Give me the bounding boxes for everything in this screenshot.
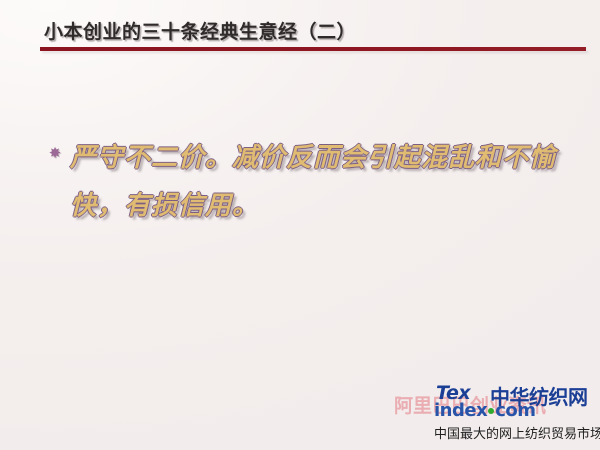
page-title: 小本创业的三十条经典生意经（二） (44, 19, 356, 45)
bullet-item-text: 严守不二价。减价反而会引起混乱和不愉快，有损信用。 (70, 134, 575, 230)
texindex-logo-index-text: index (434, 400, 487, 421)
watermark-tagline-text: 中国最大的网上纺织贸易市场 (434, 427, 600, 442)
bullet-marker-icon: ✸ (48, 146, 62, 160)
title-rule-shadow (42, 51, 588, 53)
title-divider-rule (40, 47, 586, 51)
presentation-slide: 小本创业的三十条经典生意经（二） ✸ 严守不二价。减价反而会引起混乱和不愉快，有… (0, 0, 600, 450)
cntextile-watermark-text: 中华纺织网 (490, 386, 588, 408)
watermark-overlay: 阿里巴巴创业资讯 Tex indexcom 中华纺织网 中国最大的网上纺织贸易市… (390, 378, 600, 450)
